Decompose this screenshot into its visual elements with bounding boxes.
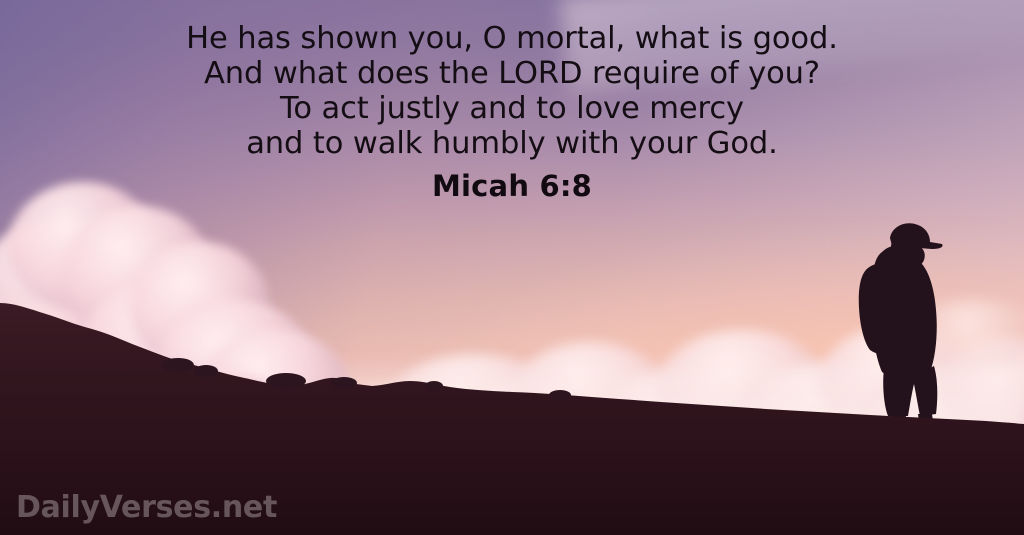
verse-text-block: He has shown you, O mortal, what is good… bbox=[0, 22, 1024, 203]
verse-line-4: and to walk humbly with your God. bbox=[0, 127, 1024, 162]
verse-reference: Micah 6:8 bbox=[0, 170, 1024, 203]
verse-line-1: He has shown you, O mortal, what is good… bbox=[0, 22, 1024, 57]
verse-line-3: To act justly and to love mercy bbox=[0, 92, 1024, 127]
watermark-dailyverses: DailyVerses.net bbox=[16, 490, 277, 525]
verse-line-2: And what does the LORD require of you? bbox=[0, 57, 1024, 92]
hiker-cap bbox=[890, 223, 943, 249]
verse-image-canvas: He has shown you, O mortal, what is good… bbox=[0, 0, 1024, 535]
